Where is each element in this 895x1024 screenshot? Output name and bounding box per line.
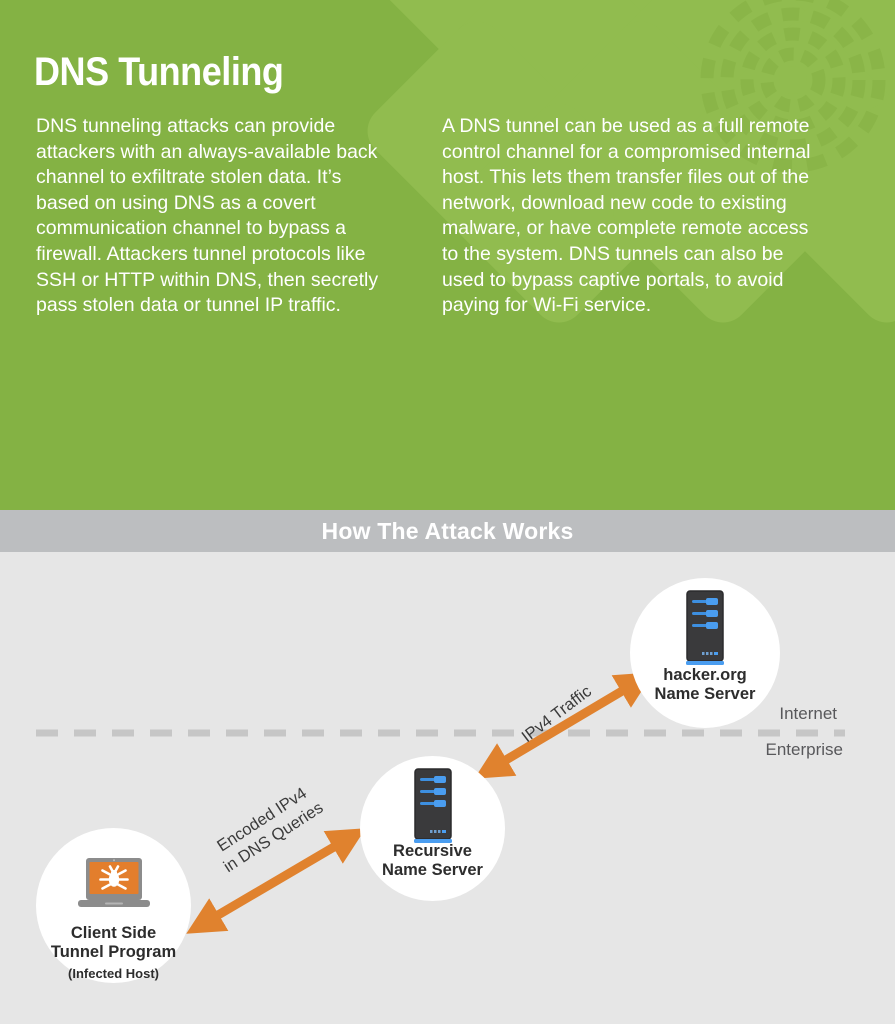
page-title: DNS Tunneling [34,50,283,94]
server-tower-icon [630,590,780,668]
node-hacker-name-server[interactable]: hacker.org Name Server [630,578,780,728]
server-tower-icon [360,768,505,846]
header-paragraph-left: DNS tunneling attacks can provide attack… [36,114,396,319]
header-section: DNS Tunneling DNS tunneling attacks can … [0,0,895,510]
infographic-page: DNS Tunneling DNS tunneling attacks can … [0,0,895,1024]
node-recursive-name-server[interactable]: Recursive Name Server [360,756,505,901]
node-client-tunnel-program[interactable]: Client Side Tunnel Program (Infected Hos… [36,828,191,983]
header-paragraph-right: A DNS tunnel can be used as a full remot… [442,114,824,319]
section-banner-title: How The Attack Works [0,510,895,552]
section-banner: How The Attack Works [0,510,895,552]
zone-label-enterprise: Enterprise [766,740,843,760]
attack-diagram: hacker.org Name Server [0,552,895,1024]
zone-label-internet: Internet [779,704,837,724]
node-hacker-label: hacker.org Name Server [630,666,780,704]
node-client-label: Client Side Tunnel Program [36,924,191,962]
node-recursive-label: Recursive Name Server [360,842,505,880]
infected-laptop-icon [36,856,191,914]
node-client-sublabel: (Infected Host) [36,966,191,982]
